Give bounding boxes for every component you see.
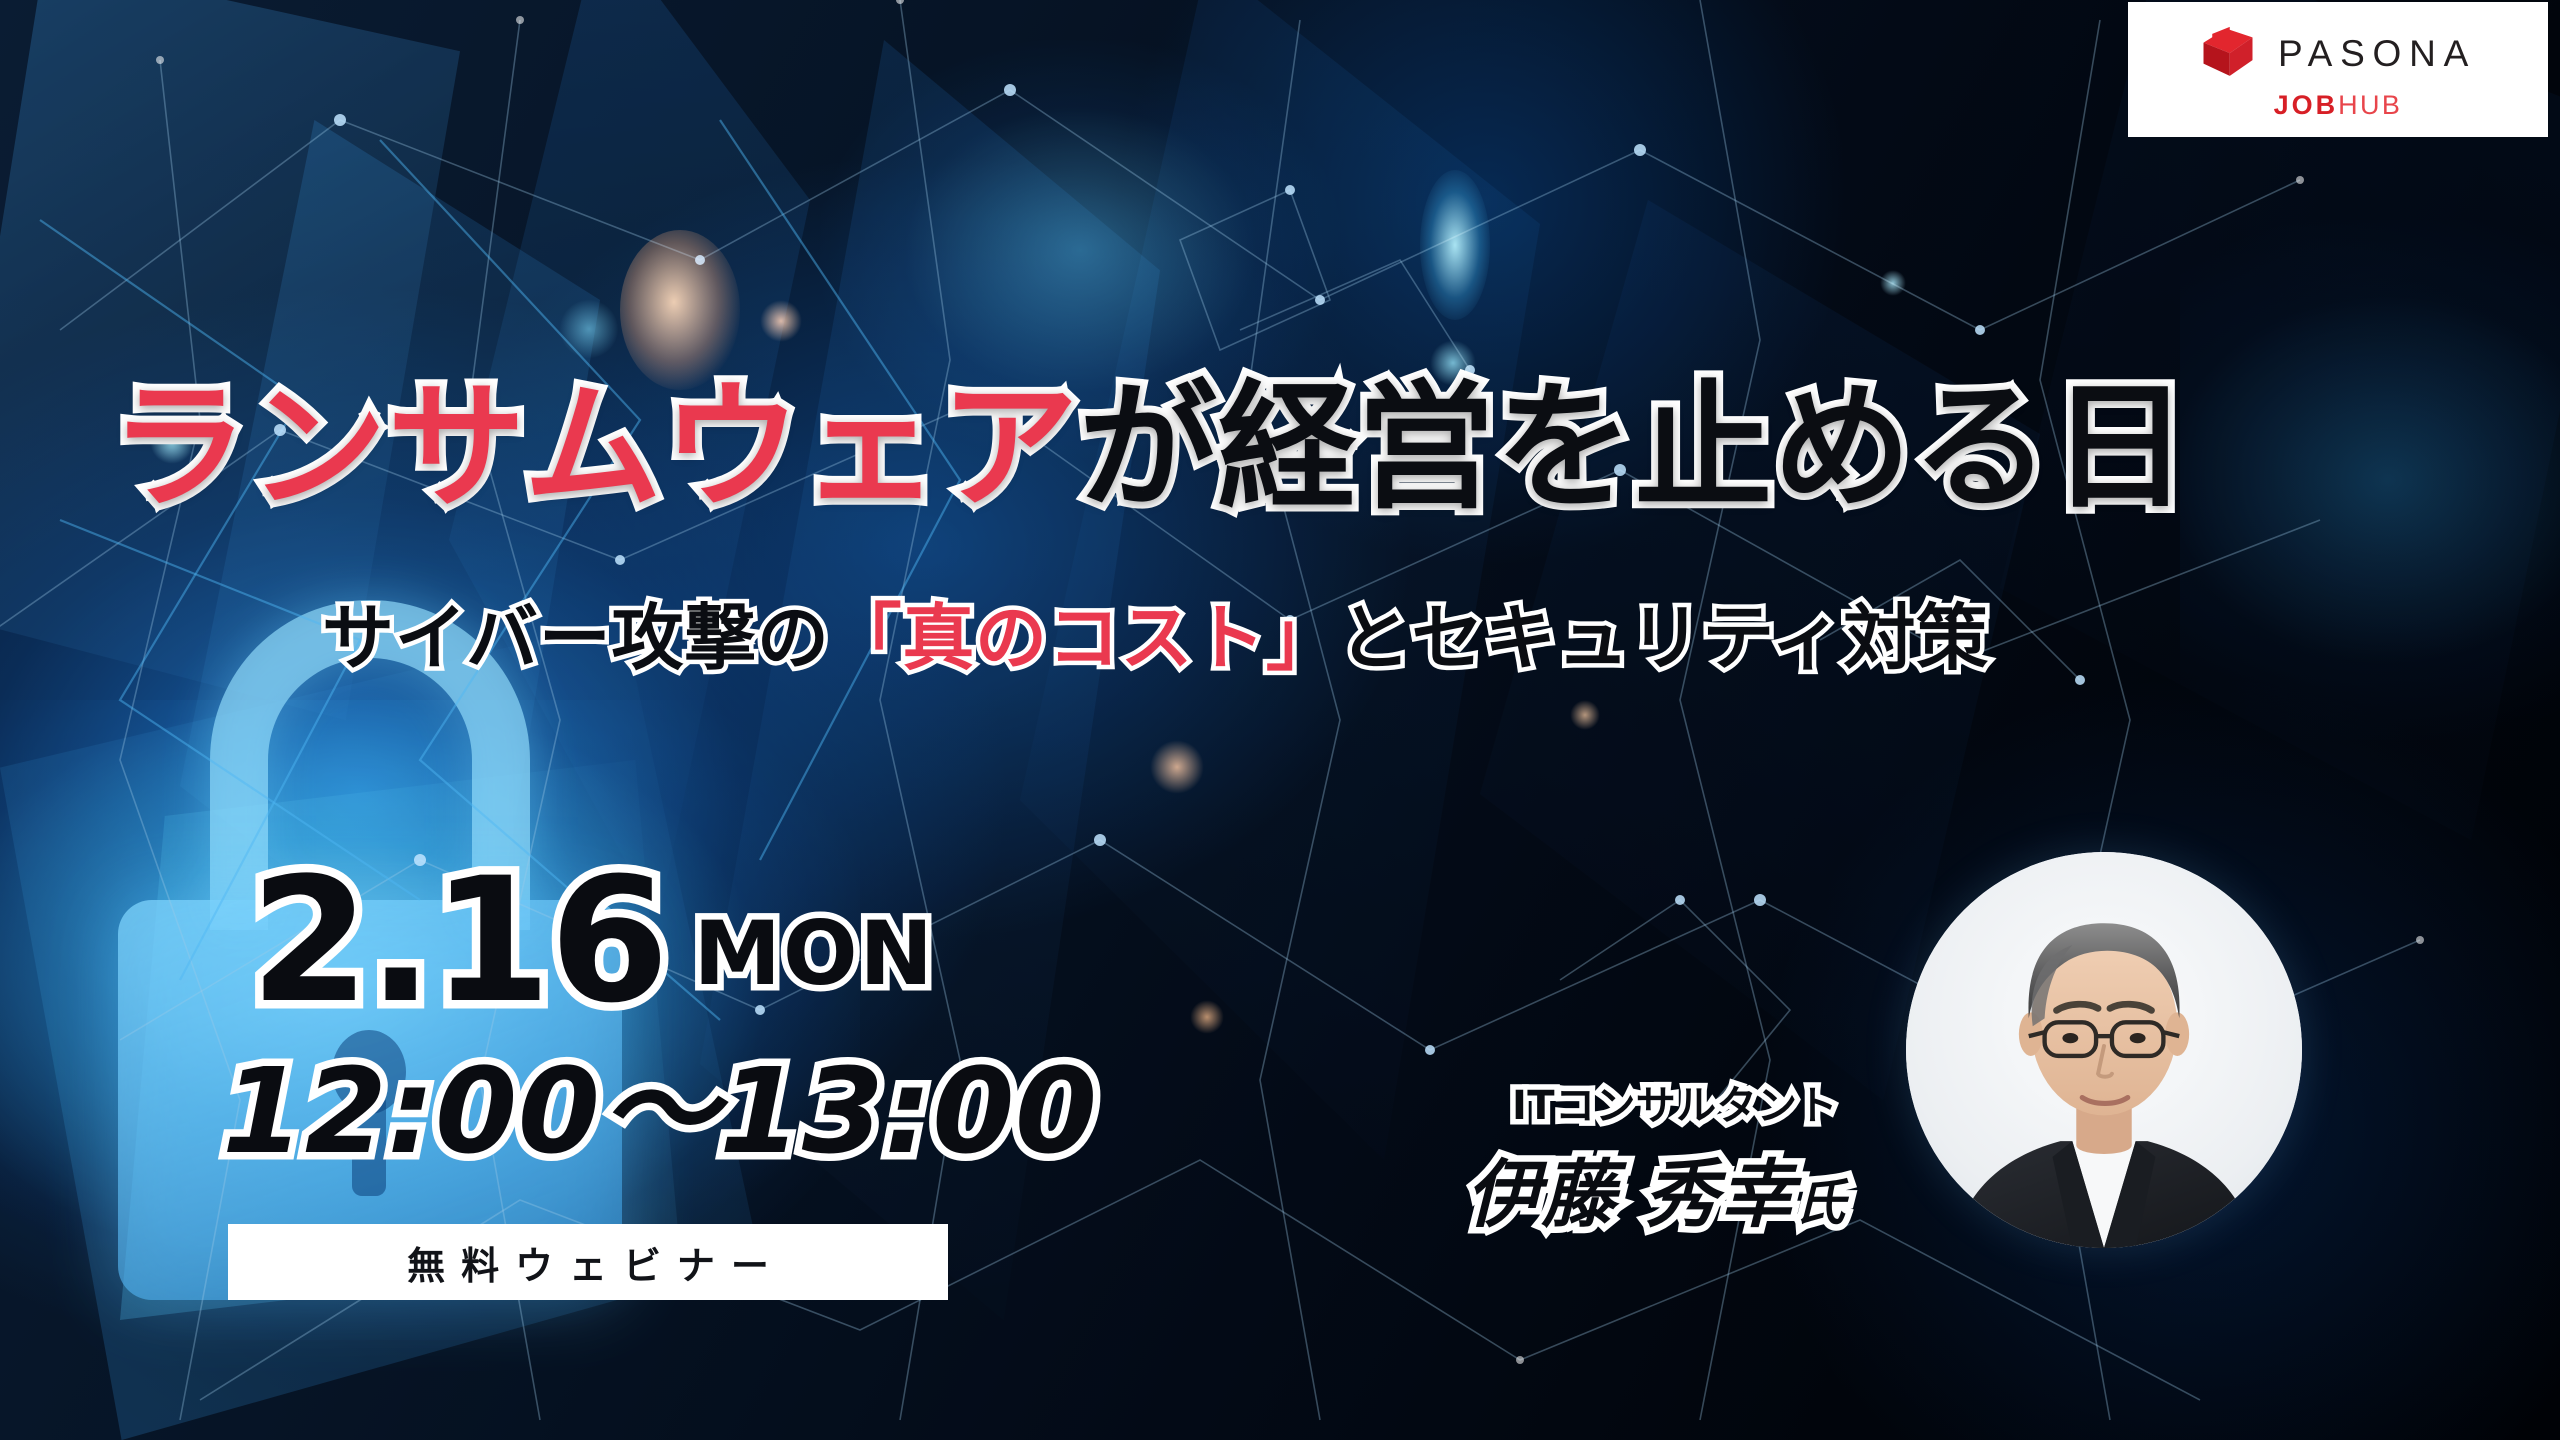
event-day-of-week: MON <box>694 910 935 1020</box>
page-subtitle: サイバー攻撃の「真のコスト」とセキュリティ対策 <box>322 598 1989 679</box>
bokeh-light <box>1150 740 1204 794</box>
event-date: 2.16 <box>250 862 668 1020</box>
brand-sub-job: JOB <box>2274 90 2338 120</box>
subtitle-highlight: 「真のコスト」 <box>830 596 1339 680</box>
subtitle-lead: サイバー攻撃の <box>322 596 830 680</box>
event-date-row: 2.16 MON <box>250 862 935 1020</box>
brand-name: PASONA <box>2278 35 2476 72</box>
page-title: ランサムウェアが経営を止める日 <box>110 375 2510 521</box>
speaker-photo <box>1906 852 2302 1248</box>
speaker-name: 伊藤 秀幸氏 <box>1466 1158 1847 1232</box>
free-webinar-label: 無料ウェビナー <box>391 1235 785 1290</box>
bokeh-light <box>1190 1000 1224 1034</box>
title-rest: が経営を止める日 <box>1079 367 2190 528</box>
speaker-name-suffix: 氏 <box>1795 1174 1846 1232</box>
speaker-role: ITコンサルタント <box>1512 1086 1838 1126</box>
subtitle-tail: とセキュリティ対策 <box>1339 596 1989 680</box>
bokeh-light <box>620 230 740 390</box>
speaker-name-text: 伊藤 秀幸 <box>1466 1152 1795 1238</box>
pasona-cube-icon <box>2200 25 2256 83</box>
bokeh-light <box>560 300 618 358</box>
event-time: 12:00〜13:00 <box>222 1052 1098 1170</box>
free-webinar-badge: 無料ウェビナー <box>228 1224 948 1300</box>
bokeh-light <box>1420 170 1490 320</box>
bokeh-light <box>1880 270 1906 296</box>
webinar-banner: PASONA JOBHUB ランサムウェアが経営を止める日 サイバー攻撃の「真の… <box>0 0 2560 1440</box>
title-highlight: ランサムウェア <box>110 367 1079 528</box>
bokeh-light <box>760 300 802 342</box>
bokeh-light <box>1570 700 1600 730</box>
pasona-jobhub-logo[interactable]: PASONA JOBHUB <box>2128 2 2548 137</box>
brand-sub-hub: HUB <box>2338 90 2402 120</box>
